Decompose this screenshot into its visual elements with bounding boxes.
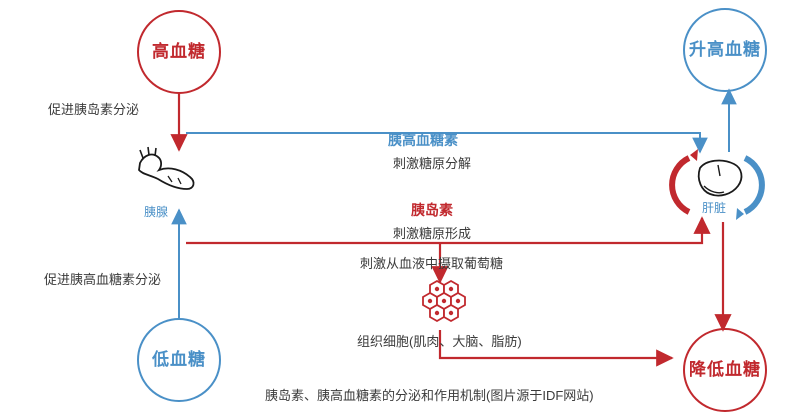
liver-blue-arc	[745, 158, 762, 212]
label-promote-glucagon: 促进胰高血糖素分泌	[44, 269, 161, 288]
liver-label: 肝脏	[702, 199, 726, 216]
node-lower-blood-sugar-label: 降低血糖	[689, 360, 761, 380]
node-low-blood-sugar-label: 低血糖	[152, 350, 206, 370]
liver-blue-arrowhead	[736, 208, 744, 220]
label-glucagon-title: 胰高血糖素	[388, 130, 458, 150]
label-insulin-action-1: 刺激糖原形成	[393, 223, 471, 242]
node-high-blood-sugar: 高血糖	[137, 10, 221, 94]
diagram-caption: 胰岛素、胰高血糖素的分泌和作用机制(图片源于IDF网站)	[265, 385, 594, 404]
node-raise-blood-sugar-label: 升高血糖	[689, 40, 761, 60]
liver-red-arc	[672, 158, 689, 212]
label-promote-insulin: 促进胰岛素分泌	[48, 99, 139, 118]
label-insulin-action-2: 刺激从血液中摄取葡萄糖	[360, 253, 503, 272]
node-high-blood-sugar-label: 高血糖	[152, 42, 206, 62]
node-raise-blood-sugar: 升高血糖	[683, 8, 767, 92]
tissue-cells-icon	[423, 281, 465, 321]
liver-icon	[699, 161, 742, 196]
pancreas-icon	[139, 147, 194, 189]
node-lower-blood-sugar: 降低血糖	[683, 328, 767, 412]
label-glucagon-action: 刺激糖原分解	[393, 153, 471, 172]
label-insulin-title: 胰岛素	[411, 200, 453, 220]
label-tissue-cells: 组织细胞(肌肉、大脑、脂肪)	[357, 331, 522, 350]
node-low-blood-sugar: 低血糖	[137, 318, 221, 402]
diagram-canvas: 高血糖 低血糖 升高血糖 降低血糖 胰腺 肝脏 促进胰岛素分泌 促进胰高血糖素分…	[0, 0, 799, 418]
liver-red-arrowhead	[690, 149, 698, 161]
arrow-layer	[0, 0, 799, 418]
pancreas-label: 胰腺	[144, 203, 168, 220]
